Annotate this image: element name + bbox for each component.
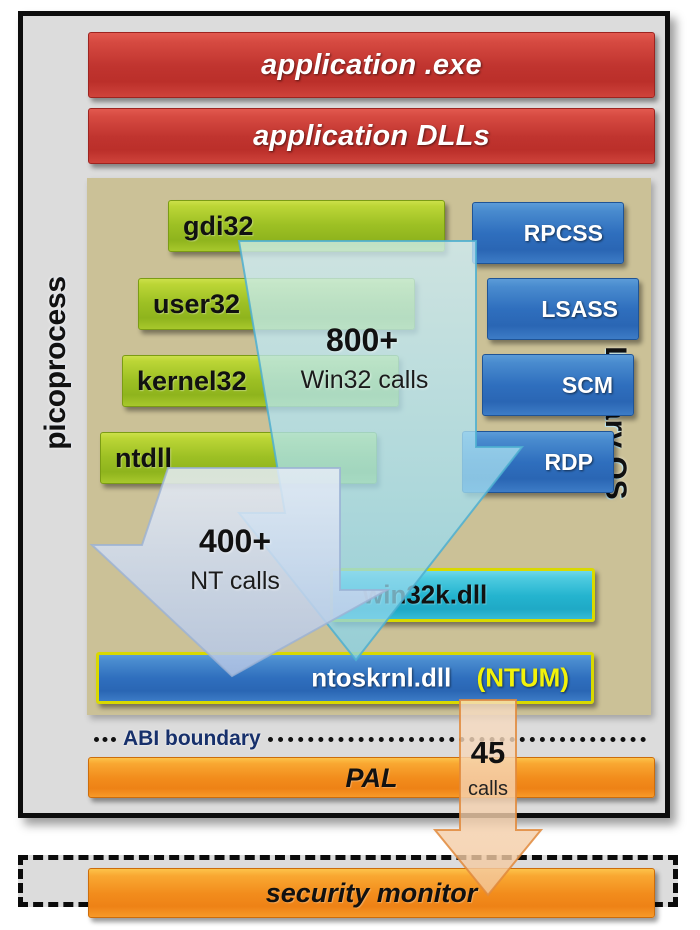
security-monitor-label: security monitor: [89, 879, 654, 907]
pal-calls-count-label: 45: [448, 735, 528, 771]
ntoskrnl-ntum-label: (NTUM): [459, 662, 569, 692]
service-scm-label: SCM: [483, 373, 633, 397]
win32-dll-gdi32-label: gdi32: [169, 212, 444, 240]
picoprocess-label: picoprocess: [39, 268, 73, 458]
ntoskrnl-dll-text: ntoskrnl.dll (NTUM): [99, 664, 591, 691]
ntoskrnl-dll-label: ntoskrnl.dll: [311, 662, 451, 692]
service-lsass-label: LSASS: [488, 297, 638, 321]
win32-dll-ntdll[interactable]: ntdll: [100, 432, 377, 484]
win32-calls-caption-label: Win32 calls: [272, 366, 457, 395]
application-dlls-label: application DLLs: [89, 121, 654, 151]
win32-dll-user32-label: user32: [139, 290, 414, 318]
pal-calls-caption-label: calls: [448, 778, 528, 801]
nt-calls-caption-label: NT calls: [155, 567, 315, 596]
pal-label: PAL: [89, 763, 654, 791]
security-monitor-bar[interactable]: security monitor: [88, 868, 655, 918]
win32k-dll-label: win32k.dll: [333, 581, 592, 608]
diagram-canvas: picoprocess application .exe application…: [0, 0, 700, 930]
service-scm[interactable]: SCM: [482, 354, 634, 416]
service-rdp[interactable]: RDP: [462, 431, 614, 493]
abi-boundary-label: ABI boundary: [116, 727, 268, 751]
win32-dll-ntdll-label: ntdll: [101, 444, 376, 472]
win32-calls-count-label: 800+: [282, 322, 442, 359]
application-exe-label: application .exe: [89, 50, 654, 80]
ntoskrnl-dll-bar[interactable]: ntoskrnl.dll (NTUM): [96, 652, 594, 704]
pal-bar[interactable]: PAL: [88, 757, 655, 798]
service-rpcss[interactable]: RPCSS: [472, 202, 624, 264]
service-rdp-label: RDP: [463, 450, 613, 474]
abi-dotted-line-left: [94, 737, 116, 742]
service-rpcss-label: RPCSS: [473, 221, 623, 245]
nt-calls-count-label: 400+: [160, 523, 310, 560]
abi-boundary: ABI boundary: [94, 726, 646, 752]
win32-dll-gdi32[interactable]: gdi32: [168, 200, 445, 252]
service-lsass[interactable]: LSASS: [487, 278, 639, 340]
application-exe-bar[interactable]: application .exe: [88, 32, 655, 98]
application-dlls-bar[interactable]: application DLLs: [88, 108, 655, 164]
win32k-dll-bar[interactable]: win32k.dll: [330, 568, 595, 622]
